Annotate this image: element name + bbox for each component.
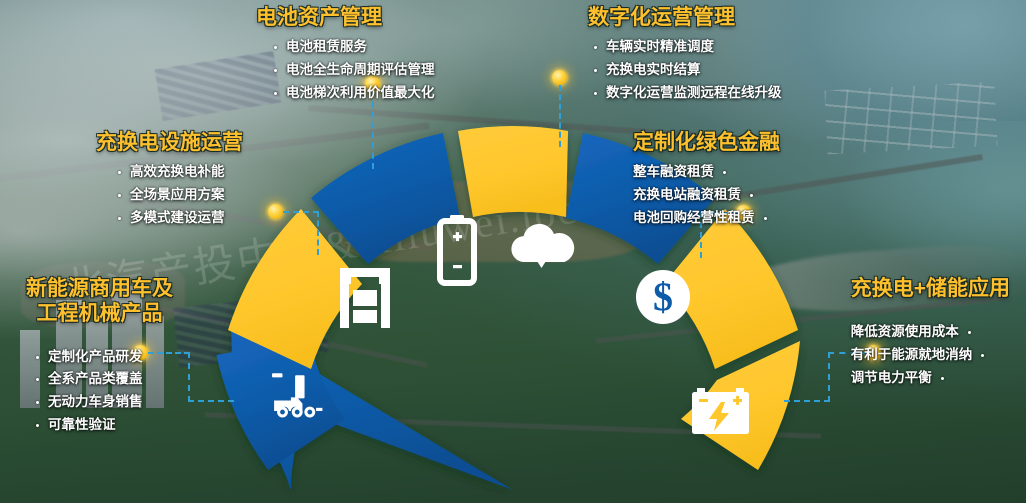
bullet-dot [274,46,277,49]
connector-line-vehicle-h2 [188,400,234,402]
block-title: 充换电+储能应用 [851,277,1010,302]
bullet-dot [118,171,121,174]
list-item-label: 可靠性验证 [48,417,116,434]
label-block-digital-ops[interactable]: 数字化运营管理 车辆实时精准调度 充换电实时结算 数字化运营监测远程在线升级 [588,6,782,107]
list-item: 数字化运营监测远程在线升级 [594,85,782,102]
dollar-coin-icon: $ [636,270,690,324]
bullet-dot [968,331,971,334]
bullet-dot [764,217,767,220]
bullet-dot [118,194,121,197]
connector-line-storage-h2 [784,400,830,402]
block-bullet-list: 电池租赁服务 电池全生命周期评估管理 电池梯次利用价值最大化 [274,39,435,102]
label-block-storage-app[interactable]: 充换电+储能应用 降低资源使用成本 有利于能源就地消纳 调节电力平衡 [851,277,1010,392]
bullet-dot [723,171,726,174]
connector-line-facility-ops-v [317,211,319,255]
list-item: 电池租赁服务 [274,39,435,56]
bullet-dot [981,354,984,357]
bullet-dot [750,194,753,197]
storage-battery-icon [692,388,749,434]
block-title: 数字化运营管理 [588,6,782,31]
list-item-label: 全场景应用方案 [130,187,225,204]
list-item: 充换电实时结算 [594,62,782,79]
list-item-label: 电池租赁服务 [286,39,367,56]
list-item: 降低资源使用成本 [851,324,1010,341]
list-item: 有利于能源就地消纳 [851,347,1010,364]
list-item-label: 电池梯次利用价值最大化 [286,85,435,102]
bullet-dot [118,217,121,220]
list-item: 调节电力平衡 [851,370,1010,387]
list-item: 无动力车身销售 [36,394,173,411]
charging-station-icon [340,268,390,328]
list-item: 充换电站融资租赁 [633,187,780,204]
block-title: 定制化绿色金融 [633,131,780,156]
list-item-label: 有利于能源就地消纳 [851,347,973,364]
list-item: 电池回购经营性租赁 [633,210,780,227]
list-item-label: 车辆实时精准调度 [606,39,714,56]
label-block-facility-ops[interactable]: 充换电设施运营 高效充换电补能 全场景应用方案 多模式建设运营 [96,131,243,232]
connector-line-storage-v [828,352,830,402]
bullet-dot [274,92,277,95]
list-item: 整车融资租赁 [633,164,780,181]
list-item: 多模式建设运营 [118,210,243,227]
list-item-label: 定制化产品研发 [48,349,143,366]
list-item: 电池全生命周期评估管理 [274,62,435,79]
cloud-download-icon [511,224,574,268]
bullet-dot [594,46,597,49]
block-bullet-list: 定制化产品研发 全系产品类覆盖 无动力车身销售 可靠性验证 [36,349,173,435]
bullet-dot [594,92,597,95]
list-item-label: 充换电站融资租赁 [633,187,741,204]
list-item-label: 全系产品类覆盖 [48,371,143,388]
block-title-line2: 工程机械产品 [26,302,173,327]
list-item: 可靠性验证 [36,417,173,434]
list-item: 全系产品类覆盖 [36,371,173,388]
label-block-battery-asset[interactable]: 电池资产管理 电池租赁服务 电池全生命周期评估管理 电池梯次利用价值最大化 [256,6,435,107]
list-item-label: 高效充换电补能 [130,164,225,181]
label-block-vehicle-products[interactable]: 新能源商用车及 工程机械产品 定制化产品研发 全系产品类覆盖 无动力车身销售 可… [26,277,173,440]
block-bullet-list: 整车融资租赁 充换电站融资租赁 电池回购经营性租赁 [633,164,780,227]
bullet-dot [36,378,39,381]
infographic-canvas: 北汽产投中心&&liuwei.local [0,0,1026,503]
list-item: 定制化产品研发 [36,349,173,366]
block-bullet-list: 降低资源使用成本 有利于能源就地消纳 调节电力平衡 [851,324,1010,387]
list-item-label: 降低资源使用成本 [851,324,959,341]
list-item: 全场景应用方案 [118,187,243,204]
label-block-green-finance[interactable]: 定制化绿色金融 整车融资租赁 充换电站融资租赁 电池回购经营性租赁 [633,131,780,232]
list-item-label: 数字化运营监测远程在线升级 [606,85,782,102]
connector-line-digital-ops [559,85,561,147]
bullet-dot [274,69,277,72]
block-bullet-list: 高效充换电补能 全场景应用方案 多模式建设运营 [118,164,243,227]
bullet-dot [36,356,39,359]
bullet-dot [941,377,944,380]
list-item: 高效充换电补能 [118,164,243,181]
list-item-label: 整车融资租赁 [633,164,714,181]
connector-line-vehicle-v [188,352,190,402]
list-item: 电池梯次利用价值最大化 [274,85,435,102]
connector-dot-digital-ops [552,70,567,85]
svg-text:$: $ [653,274,673,319]
block-title: 电池资产管理 [256,6,435,31]
list-item-label: 多模式建设运营 [130,210,225,227]
list-item-label: 充换电实时结算 [606,62,701,79]
bullet-dot [594,69,597,72]
bullet-dot [36,401,39,404]
battery-icon [440,215,474,283]
bullet-dot [36,424,39,427]
list-item-label: 无动力车身销售 [48,394,143,411]
block-title-line1: 新能源商用车及 [26,277,173,302]
fan-segment-cloud[interactable] [458,126,568,217]
connector-line-facility-ops-h [283,211,319,213]
list-item-label: 调节电力平衡 [851,370,932,387]
block-title: 充换电设施运营 [96,131,243,156]
connector-dot-facility-ops [268,204,283,219]
list-item-label: 电池全生命周期评估管理 [286,62,435,79]
block-bullet-list: 车辆实时精准调度 充换电实时结算 数字化运营监测远程在线升级 [594,39,782,102]
list-item: 车辆实时精准调度 [594,39,782,56]
list-item-label: 电池回购经营性租赁 [633,210,755,227]
